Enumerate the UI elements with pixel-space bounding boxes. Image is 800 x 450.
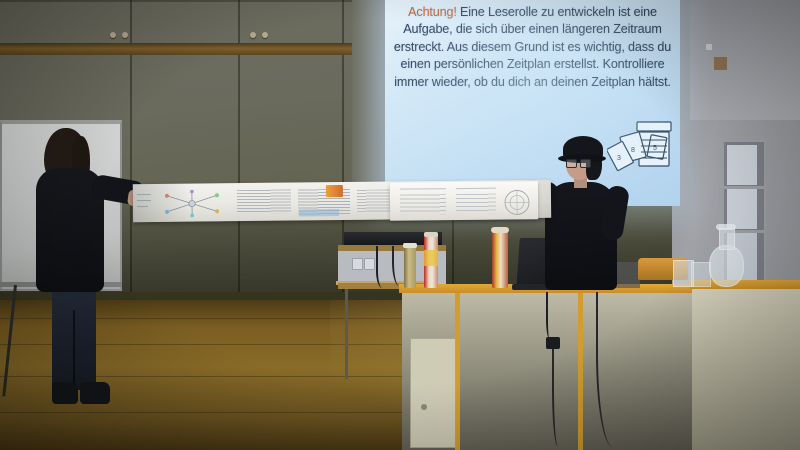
slide-accent-word: Achtung! — [408, 5, 457, 19]
window-pane-top — [727, 145, 757, 185]
counter-divider — [578, 293, 583, 450]
cable — [546, 292, 554, 338]
wall-hook-icon — [706, 44, 712, 50]
power-cable — [376, 246, 392, 288]
left-person-boot — [52, 382, 78, 404]
classroom-photo: Achtung! Eine Leserolle zu entwickeln is… — [0, 0, 800, 450]
gold-can[interactable] — [404, 246, 416, 288]
power-outlet — [352, 258, 363, 270]
power-plug — [546, 337, 560, 349]
chips-can-label — [424, 250, 438, 266]
cable — [552, 349, 562, 447]
left-person-boot — [80, 382, 110, 404]
power-cable — [392, 246, 404, 286]
projection-screen: Achtung! Eine Leserolle zu entwickeln is… — [385, 0, 680, 206]
counter-right-section — [692, 284, 800, 450]
glasses-icon — [566, 159, 590, 166]
paper-scroll-right-section[interactable] — [390, 181, 538, 221]
gold-can-lid — [403, 243, 417, 248]
wall-wood-marker — [714, 57, 727, 70]
svg-text:8: 8 — [631, 147, 635, 154]
calendar-pages-illustration: 583 — [607, 118, 677, 182]
leg-separation — [73, 310, 75, 390]
carafe-neck — [719, 228, 735, 250]
power-outlet — [364, 258, 375, 270]
desk-leg — [345, 289, 348, 379]
counter-door-panel[interactable] — [410, 338, 456, 448]
candy-tube[interactable] — [492, 230, 508, 288]
upper-right-wall — [690, 0, 800, 120]
svg-text:3: 3 — [617, 155, 621, 162]
carafe-lip — [716, 224, 736, 230]
scroll-circle-diagram — [500, 187, 534, 217]
screen-left-shadow — [352, 0, 386, 206]
window-pane-middle — [727, 189, 757, 229]
slide-text: Achtung! Eine Leserolle zu entwickeln is… — [391, 4, 674, 91]
candy-tube-lid — [491, 227, 509, 233]
water-carafe[interactable] — [709, 245, 744, 287]
drinking-glass-2[interactable] — [691, 262, 711, 287]
counter-door-knob[interactable] — [421, 404, 427, 410]
chips-can-lid — [424, 232, 438, 237]
